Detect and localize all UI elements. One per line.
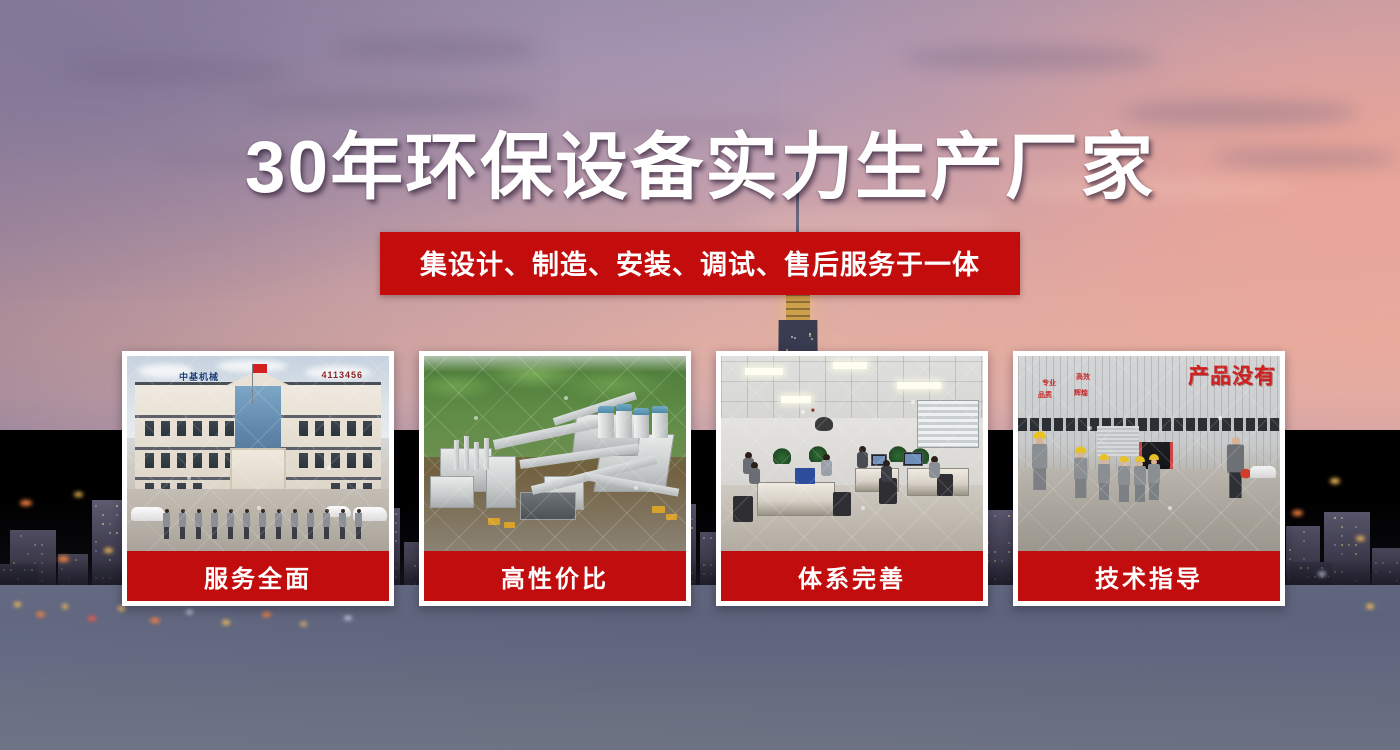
tower-window — [794, 337, 796, 339]
promo-banner: 30年环保设备实力生产厂家 集设计、制造、安装、调试、售后服务于一体 — [0, 0, 1400, 750]
building-window — [315, 453, 324, 468]
construction-machine — [504, 522, 515, 528]
staff-person — [195, 509, 202, 539]
subtitle-banner: 集设计、制造、安装、调试、售后服务于一体 — [380, 232, 1020, 295]
window-blinds — [917, 400, 979, 448]
staff-person — [291, 509, 298, 539]
feature-card[interactable]: ■ — [716, 351, 988, 606]
staff-person — [163, 509, 170, 539]
watermark-dot — [861, 506, 865, 510]
building-phone-number: 4113456 — [321, 370, 363, 380]
staff-person — [323, 509, 330, 539]
worker-with-hardhat — [1148, 454, 1160, 500]
factory-slogan: 辉煌 — [1074, 388, 1088, 398]
ceiling-light-panel — [781, 396, 811, 403]
feature-card[interactable]: 高性价比 — [419, 351, 691, 606]
building-window — [209, 453, 218, 468]
staff-person — [259, 509, 266, 539]
building-window — [145, 453, 154, 468]
building-window — [177, 421, 186, 436]
cloud-shape — [240, 92, 540, 114]
feature-card-row: 中基机械 4113456 — [122, 351, 1285, 606]
desk-box — [795, 468, 815, 484]
watermark-dot — [474, 416, 478, 420]
building-window — [193, 421, 202, 436]
watermark-dot — [564, 396, 568, 400]
watermark-dot — [911, 400, 915, 404]
city-light — [74, 492, 83, 497]
office-chair — [733, 496, 753, 522]
card-caption: 高性价比 — [424, 551, 686, 601]
staff-person — [339, 509, 346, 539]
watermark-dot — [327, 466, 331, 470]
feature-card[interactable]: 产品没有 专业 高效 品质 辉煌 — [1013, 351, 1285, 606]
building-window — [347, 421, 356, 436]
factory-slogan: 高效 — [1076, 372, 1090, 382]
card-caption: 体系完善 — [721, 551, 983, 601]
tower-window — [811, 338, 813, 340]
storage-silo — [598, 406, 614, 438]
ceiling-light-panel — [897, 382, 941, 389]
worker-with-hardhat — [1134, 456, 1146, 502]
exhaust-stack — [484, 438, 489, 470]
watermark-dot — [1168, 506, 1172, 510]
exhaust-stack — [474, 442, 479, 470]
city-light — [300, 622, 307, 626]
building-window — [193, 453, 202, 468]
tower-window — [809, 335, 811, 337]
card-photo-workers-factory: 产品没有 专业 高效 品质 辉煌 — [1018, 356, 1280, 551]
city-light — [20, 500, 32, 506]
building-company-sign: 中基机械 — [179, 370, 219, 383]
cloud-shape — [1120, 100, 1360, 126]
city-light — [88, 616, 96, 621]
building-window — [177, 453, 186, 468]
staff-person — [179, 509, 186, 539]
worker-with-hardhat — [1098, 454, 1110, 500]
storage-silo — [616, 404, 632, 438]
plant-building — [430, 476, 474, 508]
card-photo-plant-aerial — [424, 356, 686, 551]
building-window — [315, 421, 324, 436]
parked-car — [131, 507, 165, 521]
horizon-haze — [424, 356, 686, 372]
building-window — [209, 421, 218, 436]
staff-person — [243, 509, 250, 539]
city-light — [14, 602, 21, 607]
watermark-dot — [257, 506, 261, 510]
building-window — [299, 453, 308, 468]
factory-window-strip — [1018, 418, 1280, 431]
supervisor-person — [1227, 437, 1244, 498]
city-light — [1318, 572, 1326, 576]
city-light — [1366, 604, 1374, 609]
card-caption: 技术指导 — [1018, 551, 1280, 601]
city-light — [36, 612, 45, 617]
city-light — [150, 618, 160, 623]
building-window — [363, 453, 372, 468]
city-light — [1330, 478, 1340, 484]
cloud-shape — [900, 46, 1160, 70]
tower-window — [809, 333, 811, 335]
computer-monitor — [903, 452, 923, 466]
staff-person — [355, 509, 362, 539]
city-light — [118, 606, 125, 611]
potted-plant — [773, 448, 791, 464]
building-window — [331, 421, 340, 436]
storage-silo — [652, 406, 668, 438]
building-window — [347, 453, 356, 468]
building-entrance-portico — [230, 448, 286, 492]
city-light — [262, 612, 271, 617]
construction-machine — [652, 506, 665, 513]
card-caption: 服务全面 — [127, 551, 389, 601]
card-photo-headquarters: 中基机械 4113456 — [127, 356, 389, 551]
card-photo-office-interior: ■ — [721, 356, 983, 551]
worker-with-hardhat — [1118, 456, 1130, 502]
cloud-shape — [330, 34, 540, 64]
city-light — [344, 616, 352, 620]
office-chair — [937, 474, 953, 496]
building-window — [225, 421, 234, 436]
national-flag — [253, 364, 267, 373]
river-sheen — [0, 585, 1400, 750]
watermark-dot — [634, 486, 638, 490]
city-light — [186, 610, 193, 614]
exhaust-stack — [464, 436, 469, 470]
city-light — [1356, 536, 1365, 541]
factory-banner-text: 产品没有 — [1188, 360, 1276, 390]
city-light — [58, 556, 69, 562]
plant-building — [486, 456, 516, 508]
storage-silo — [634, 408, 649, 438]
exhaust-stack — [454, 440, 459, 470]
building-window — [145, 421, 154, 436]
staff-person — [275, 509, 282, 539]
watermark-dot — [1088, 426, 1092, 430]
construction-machine — [666, 514, 677, 520]
plant-building — [520, 492, 576, 520]
building-window — [161, 421, 170, 436]
office-desk — [757, 482, 835, 516]
factory-slogan: 专业 — [1042, 378, 1056, 388]
watermark-dot — [801, 410, 805, 414]
building-window — [331, 453, 340, 468]
watermark-dot — [1218, 416, 1222, 420]
construction-machine — [488, 518, 500, 525]
city-light — [104, 548, 113, 553]
factory-slogan: 品质 — [1038, 390, 1052, 400]
parked-car — [1250, 466, 1276, 478]
feature-card[interactable]: 中基机械 4113456 — [122, 351, 394, 606]
city-light — [62, 604, 68, 609]
city-light — [1292, 510, 1303, 516]
subtitle-bar-wrap: 集设计、制造、安装、调试、售后服务于一体 — [0, 232, 1400, 295]
office-chair — [833, 492, 851, 516]
building-window — [299, 421, 308, 436]
watermark-dot — [187, 476, 191, 480]
ceiling-light-panel — [745, 368, 783, 375]
staff-person — [227, 509, 234, 539]
roller-shutter — [1097, 426, 1139, 456]
cloud-shape — [60, 58, 290, 84]
staff-person — [307, 509, 314, 539]
building-window — [363, 421, 372, 436]
city-light — [222, 620, 230, 625]
ceiling-light-panel — [833, 362, 867, 369]
worker-with-hardhat — [1032, 431, 1047, 490]
worker-with-hardhat — [1074, 446, 1087, 498]
wall-decal-logo: ■ — [807, 408, 841, 434]
staff-person — [211, 509, 218, 539]
building-window — [161, 453, 170, 468]
page-title: 30年环保设备实力生产厂家 — [0, 131, 1400, 204]
tower-window — [791, 336, 793, 338]
